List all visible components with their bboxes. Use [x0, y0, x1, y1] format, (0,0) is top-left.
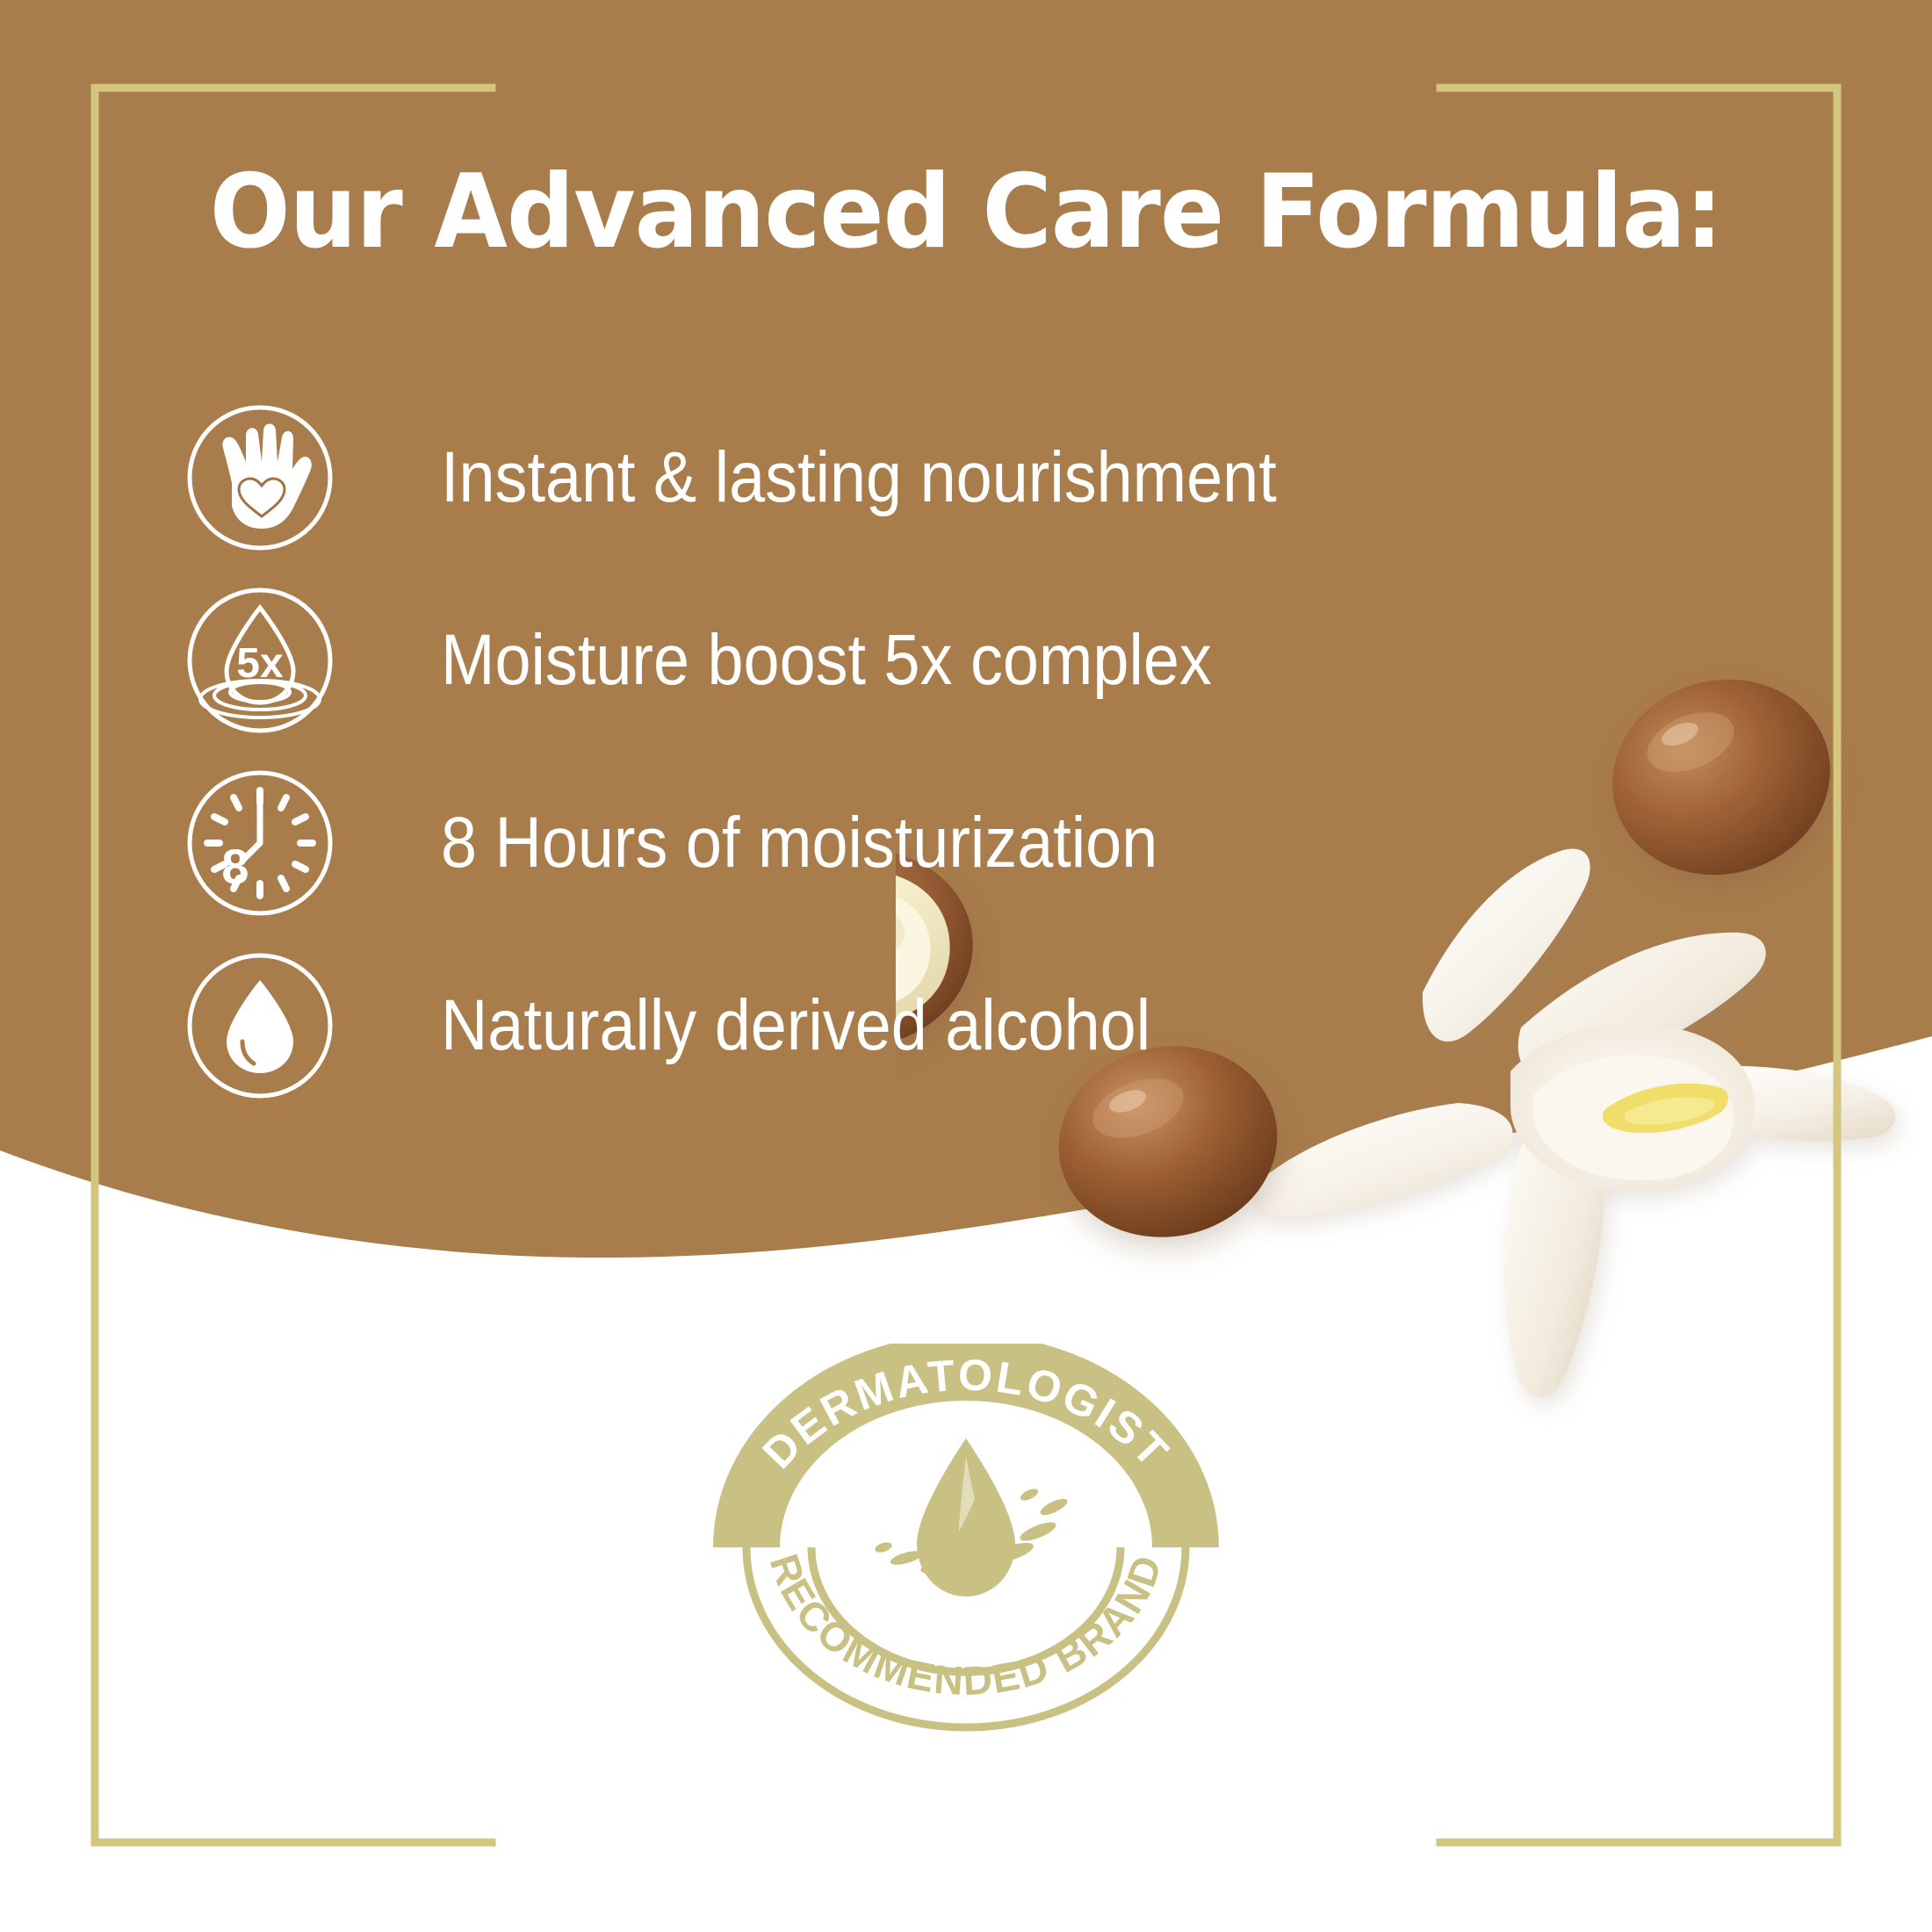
clock-badge-text: 8 — [221, 839, 249, 894]
frame-corner-bottom-left — [95, 1642, 492, 1842]
feature-label: Naturally derived alcohol — [441, 990, 1150, 1062]
feature-label: 8 Hours of moisturization — [441, 807, 1157, 879]
feature-label: Instant & lasting nourishment — [441, 442, 1277, 514]
droplet-solid-icon — [184, 950, 335, 1101]
clock-8-hours-icon: 8 — [184, 768, 335, 919]
feature-list: Instant & lasting nourishment 5x Moistur… — [184, 386, 1590, 1117]
droplet-with-sparkles-icon — [874, 1438, 1070, 1597]
frame-corner-bottom-right — [1440, 1642, 1837, 1842]
droplet-badge-text: 5x — [236, 640, 284, 687]
feature-item: Naturally derived alcohol — [184, 934, 1590, 1117]
feature-item: 8 8 Hours of moisturization — [184, 752, 1590, 934]
hand-heart-icon — [184, 402, 335, 553]
page-title: Our Advanced Care Formula: — [68, 162, 1864, 263]
droplet-5x-ripple-icon: 5x — [184, 585, 335, 736]
feature-label: Moisture boost 5x complex — [441, 624, 1212, 696]
feature-item: 5x Moisture boost 5x complex — [184, 569, 1590, 752]
dermatologist-recommended-seal: DERMATOLOGIST RECOMMENDED BRAND — [703, 1344, 1229, 1739]
marketing-banner: Our Advanced Care Formula: Instant & las… — [0, 0, 1932, 1932]
feature-item: Instant & lasting nourishment — [184, 386, 1590, 569]
